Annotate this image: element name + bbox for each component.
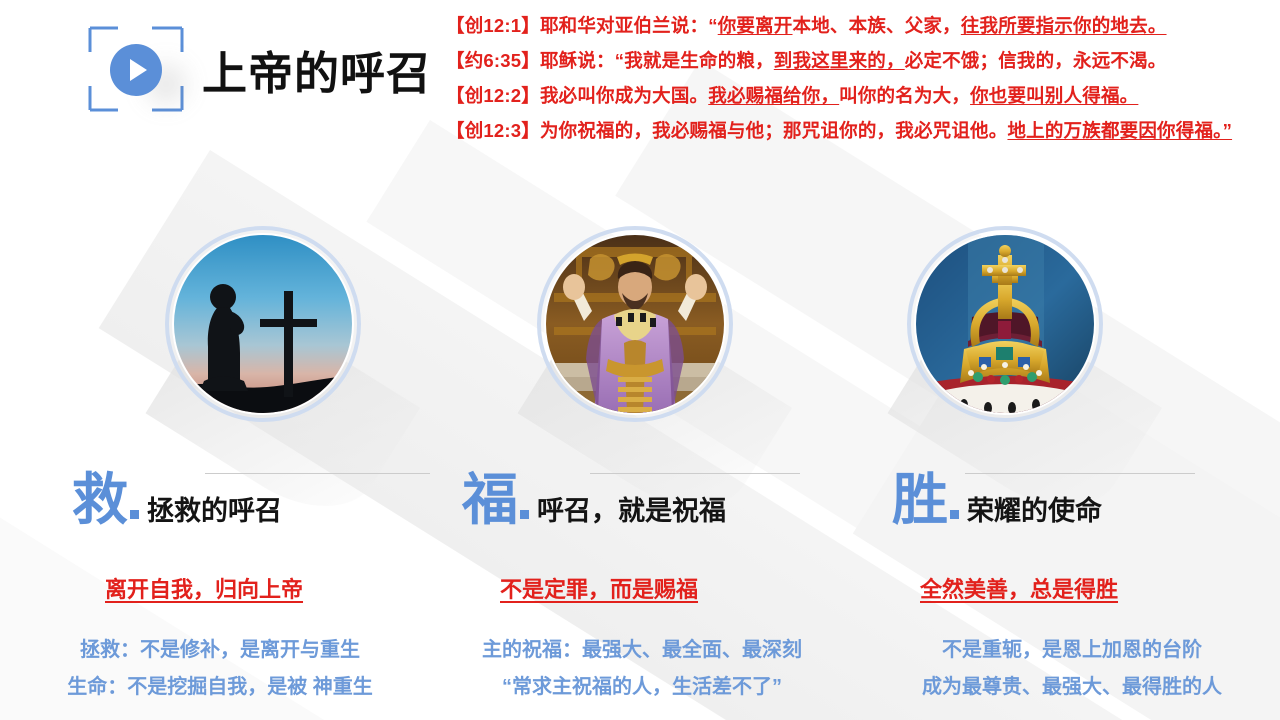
column-body-3: 不是重轭，是恩上加恩的台阶 成为最尊贵、最强大、最得胜的人 xyxy=(862,632,1280,706)
column-subheading: 呼召，就是祝福 xyxy=(537,496,726,528)
square-dot-icon xyxy=(130,510,139,519)
body-line: 拯救：不是修补，是离开与重生 xyxy=(10,632,430,669)
column-red-line-2: 不是定罪，而是赐福 xyxy=(500,572,698,604)
body-line: 生命：不是挖掘自我，是被 神重生 xyxy=(10,669,430,706)
column-image-2 xyxy=(537,226,733,422)
column-big-char: 救 xyxy=(72,472,128,528)
column-heading-3: 胜 荣耀的使命 xyxy=(892,472,1102,528)
column-big-char: 福 xyxy=(462,472,518,528)
column-heading-2: 福 呼召，就是祝福 xyxy=(462,472,726,528)
column-body-2: 主的祝福：最强大、最全面、最深刻 “常求主祝福的人，生活差不了” xyxy=(432,632,852,706)
body-line: 主的祝福：最强大、最全面、最深刻 xyxy=(432,632,852,669)
royal-crown-image xyxy=(916,235,1094,413)
column-subheading: 荣耀的使命 xyxy=(967,496,1102,528)
image-row xyxy=(0,0,1280,720)
body-line: 成为最尊贵、最强大、最得胜的人 xyxy=(862,669,1280,706)
cross-prayer-silhouette-image xyxy=(174,235,352,413)
body-line: “常求主祝福的人，生活差不了” xyxy=(432,669,852,706)
column-image-1 xyxy=(165,226,361,422)
square-dot-icon xyxy=(950,510,959,519)
column-image-3 xyxy=(907,226,1103,422)
body-line: 不是重轭，是恩上加恩的台阶 xyxy=(862,632,1280,669)
column-red-line-3: 全然美善，总是得胜 xyxy=(920,572,1118,604)
king-worship-painting-image xyxy=(546,235,724,413)
column-heading-1: 救 拯救的呼召 xyxy=(72,472,282,528)
column-subheading: 拯救的呼召 xyxy=(147,496,282,528)
square-dot-icon xyxy=(520,510,529,519)
presentation-slide: 上帝的呼召 【创12:1】耶和华对亚伯兰说：“你要离开本地、本族、父家，往我所要… xyxy=(0,0,1280,720)
column-body-1: 拯救：不是修补，是离开与重生 生命：不是挖掘自我，是被 神重生 xyxy=(10,632,430,706)
column-big-char: 胜 xyxy=(892,472,948,528)
column-red-line-1: 离开自我，归向上帝 xyxy=(105,572,303,604)
